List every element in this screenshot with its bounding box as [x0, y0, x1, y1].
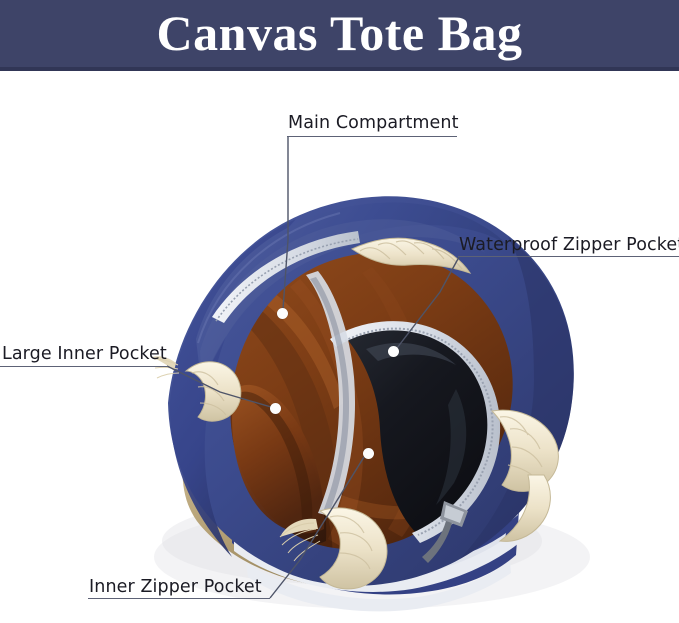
annotation-rule-waterproof-zipper-pocket — [458, 256, 679, 257]
annotation-rule-large-inner-pocket — [0, 366, 168, 367]
annotation-dot-inner-zipper-pocket — [363, 448, 374, 459]
annotation-label-inner-zipper-pocket: Inner Zipper Pocket — [89, 576, 262, 598]
annotation-dot-large-inner-pocket — [270, 403, 281, 414]
page-title: Canvas Tote Bag — [0, 0, 679, 66]
annotation-label-waterproof-zipper-pocket: Waterproof Zipper Pocket — [459, 234, 679, 256]
page-header-banner: Canvas Tote Bag — [0, 0, 679, 71]
annotation-rule-main-compartment — [287, 136, 457, 137]
annotation-label-main-compartment: Main Compartment — [288, 112, 459, 134]
annotation-dot-main-compartment — [277, 308, 288, 319]
annotation-rule-inner-zipper-pocket — [88, 598, 270, 599]
annotation-label-large-inner-pocket: Large Inner Pocket — [2, 343, 167, 365]
annotation-dot-waterproof-zipper-pocket — [388, 346, 399, 357]
